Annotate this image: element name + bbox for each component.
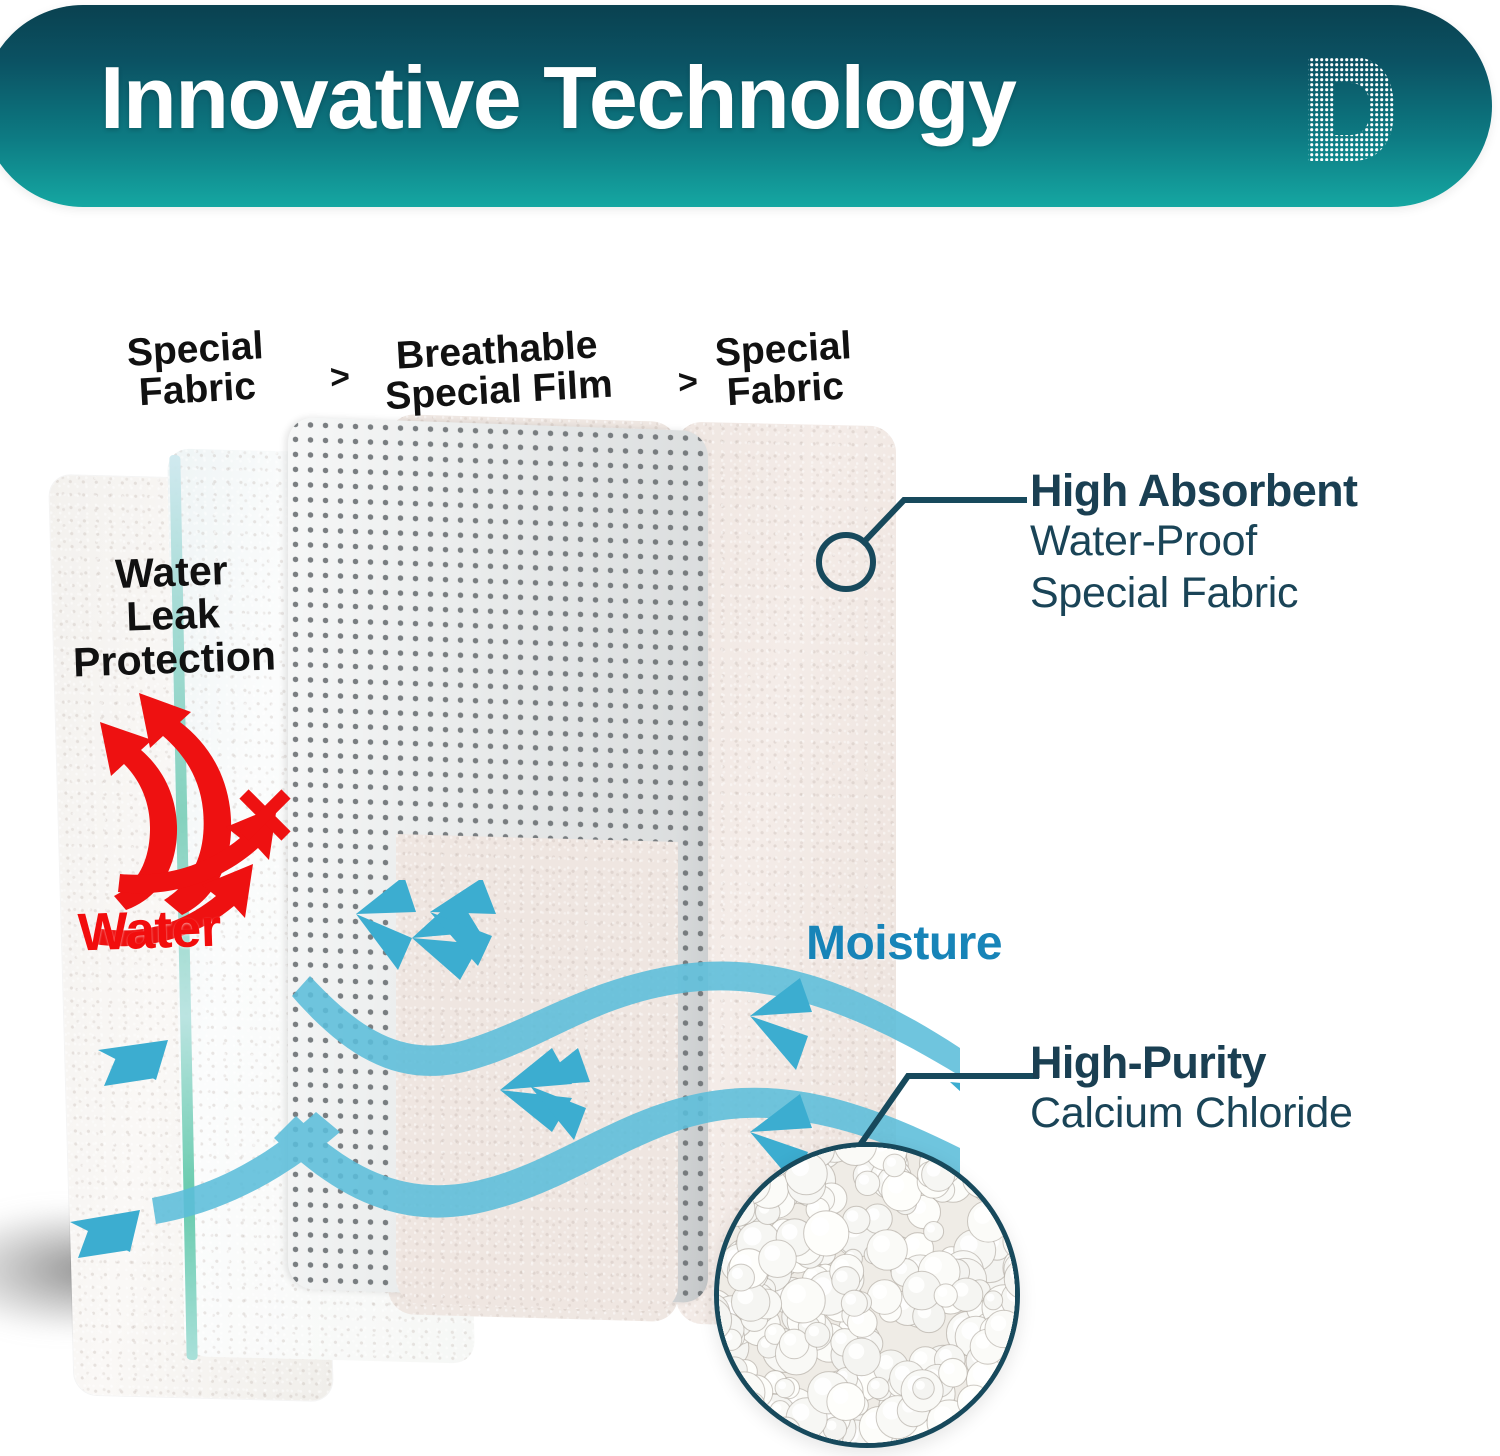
label-separator-1: >: [329, 358, 351, 398]
callout-absorbent-line3: Special Fabric: [1030, 568, 1357, 620]
callout-purity-heading: High-Purity: [1030, 1038, 1353, 1088]
callout-absorbent-line2: Water-Proof: [1030, 516, 1357, 568]
label-moisture: Moisture: [806, 916, 1002, 971]
label-separator-2: >: [677, 363, 699, 403]
label-special-fabric-right: Special Fabric: [714, 326, 855, 413]
label-special-fabric-left: Special Fabric: [126, 326, 267, 413]
pellet-illustration: [714, 1142, 1020, 1448]
callout-absorbent-heading: High Absorbent: [1030, 466, 1357, 516]
blocked-x-icon: [236, 786, 294, 844]
infographic-canvas: Innovative Technology: [0, 0, 1500, 1456]
callout-high-absorbent: High Absorbent Water-Proof Special Fabri…: [1030, 466, 1357, 620]
callout-high-purity: High-Purity Calcium Chloride: [1030, 1038, 1353, 1140]
leader-line-absorbent: [800, 470, 1050, 610]
dotted-d-logo-icon: [1300, 53, 1396, 165]
page-title: Innovative Technology: [100, 54, 1015, 142]
label-breathable-special-film: Breathable Special Film: [382, 325, 614, 417]
calcium-chloride-photo-inset: [714, 1142, 1020, 1448]
callout-purity-line2: Calcium Chloride: [1030, 1088, 1353, 1140]
header-banner: Innovative Technology: [0, 5, 1492, 207]
